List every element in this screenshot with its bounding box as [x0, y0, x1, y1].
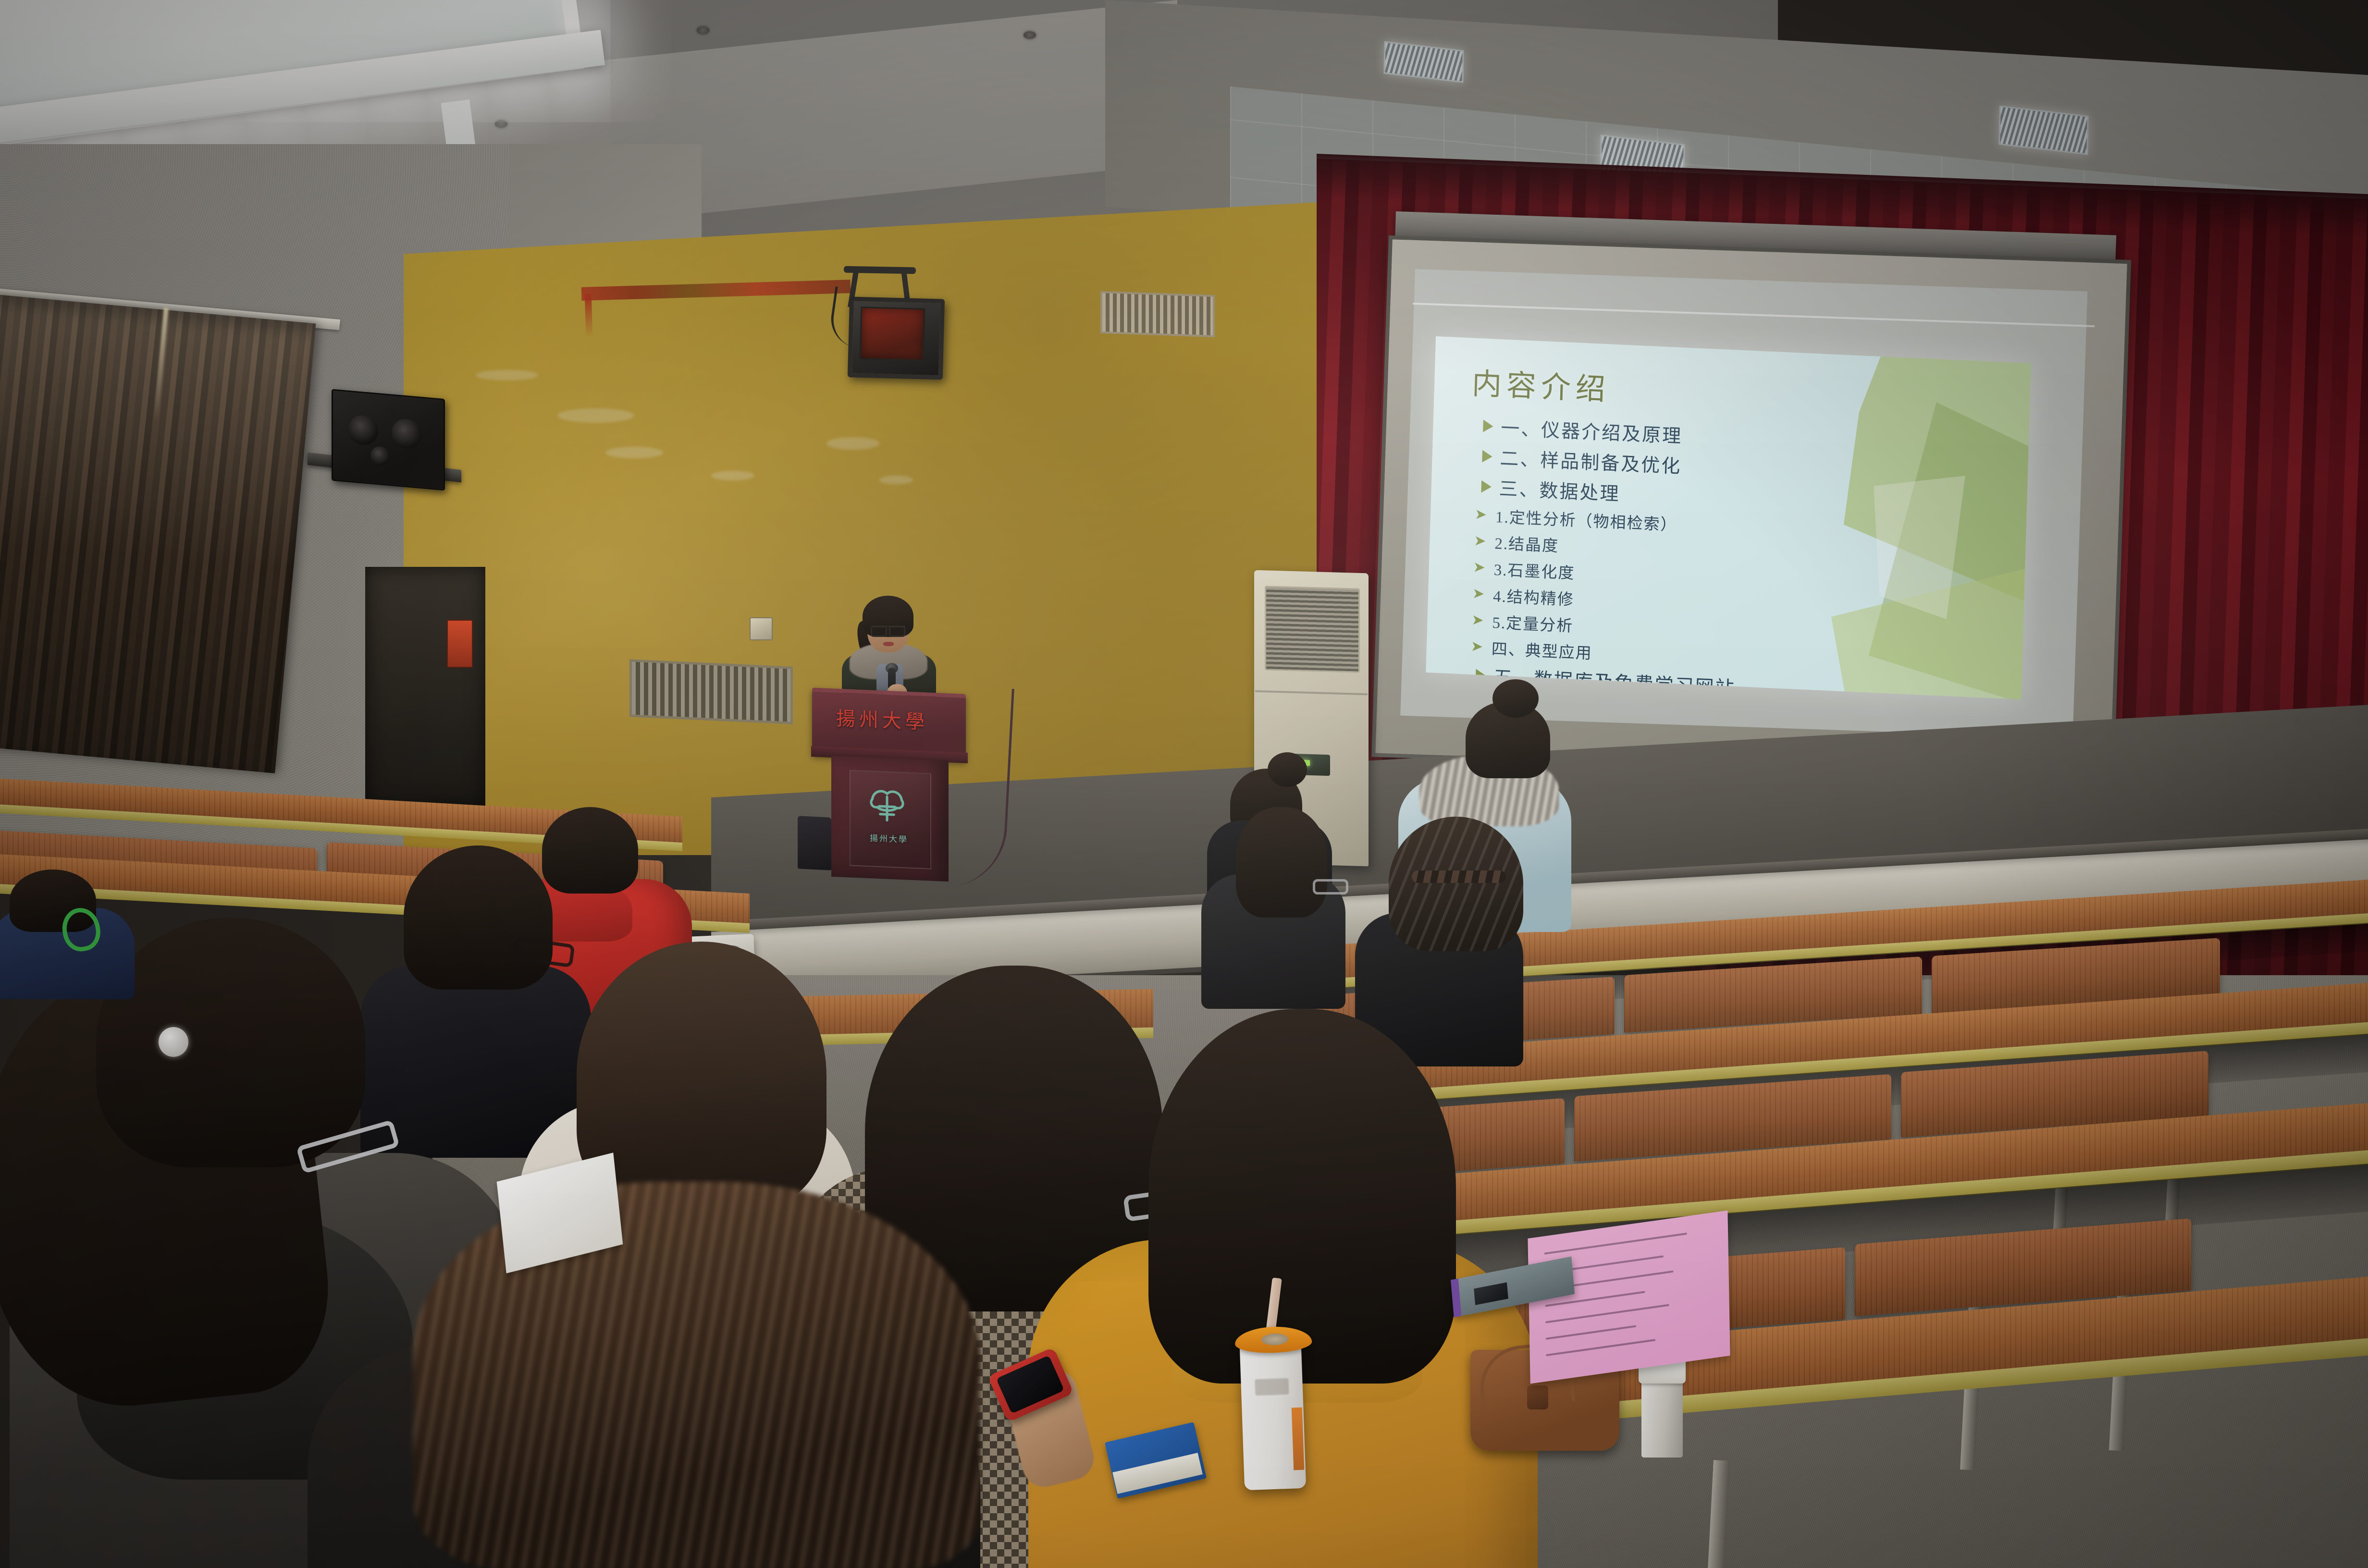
arrow-bullet-icon: ➤ [1471, 613, 1485, 628]
hair-bun [1268, 752, 1307, 787]
fire-extinguisher-box [447, 620, 473, 668]
hair [542, 807, 638, 894]
arrow-bullet-icon: ➤ [1475, 507, 1488, 522]
wall-banner-drip [585, 294, 593, 337]
stage-spotlight-lens [860, 306, 925, 361]
arrow-bullet-icon: ➤ [1472, 587, 1486, 601]
hair [404, 845, 553, 990]
hair-ponytail [96, 918, 365, 1167]
hair-long-brown [413, 1182, 980, 1568]
lecture-hall-photo: 内容介绍 一、仪器介绍及原理 二、样品制备及优化 三、数据处理 ➤1.定性分析（… [0, 0, 2368, 1568]
hair-tie [159, 1027, 188, 1057]
stage-door[interactable] [365, 567, 485, 807]
air-conditioner-grille [1265, 586, 1360, 673]
speaker-cone-icon [392, 418, 421, 450]
drink-cup-stripe [1292, 1408, 1305, 1470]
hair-braided [1389, 817, 1523, 951]
university-emblem-icon [863, 782, 912, 833]
slide-item-text: 1.定性分析（物相检索） [1495, 504, 1677, 535]
hair-bun [1492, 679, 1539, 718]
slide-outline-list: 一、仪器介绍及原理 二、样品制备及优化 三、数据处理 ➤1.定性分析（物相检索）… [1463, 412, 2029, 699]
handbag-clasp [1527, 1385, 1548, 1409]
triangle-bullet-icon [1482, 450, 1492, 463]
presenter-mouth [883, 642, 894, 646]
hair-braid-band [1412, 870, 1506, 883]
hair [1236, 807, 1327, 918]
arrow-bullet-icon: ➤ [1470, 639, 1484, 654]
triangle-bullet-icon [1483, 420, 1493, 433]
wall-speaker [332, 389, 445, 491]
podium-university-name: 揚州大學 [836, 703, 951, 735]
arrow-bullet-icon: ➤ [1474, 534, 1487, 549]
slide-item-text: 四、典型应用 [1491, 636, 1592, 664]
slide-item-text: 一、仪器介绍及原理 [1501, 413, 1683, 448]
wall-vent-grille [1100, 291, 1215, 337]
drink-cup-logo [1255, 1378, 1289, 1396]
bag-beside-podium [798, 816, 831, 870]
ceiling-downlight [697, 26, 709, 34]
wall-vent-grille [629, 659, 793, 724]
speaker-cone-icon [370, 446, 390, 466]
ceiling-downlight [495, 120, 507, 128]
window-curtain [0, 294, 316, 773]
ceiling-downlight [1024, 31, 1036, 39]
presenter-eyeglasses [871, 625, 905, 636]
speaker-cone-icon [348, 414, 378, 446]
arrow-bullet-icon: ➤ [1473, 560, 1486, 575]
hair [1148, 1009, 1456, 1384]
slide-item-text: 三、数据处理 [1499, 474, 1620, 506]
slide-item-text: 4.结构精修 [1493, 583, 1575, 610]
slide-item-text: 2.结晶度 [1494, 530, 1559, 556]
triangle-bullet-icon [1481, 480, 1492, 493]
projected-slide: 内容介绍 一、仪器介绍及原理 二、样品制备及优化 三、数据处理 ➤1.定性分析（… [1426, 336, 2031, 699]
slide-item-text: 5.定量分析 [1492, 610, 1574, 637]
slide-item-text: 二、样品制备及优化 [1500, 443, 1682, 478]
wall-socket [750, 617, 773, 640]
eyeglasses [1313, 879, 1348, 894]
university-emblem-caption: 揚州大學 [860, 831, 918, 845]
slide-item-text: 3.石墨化度 [1493, 557, 1575, 584]
